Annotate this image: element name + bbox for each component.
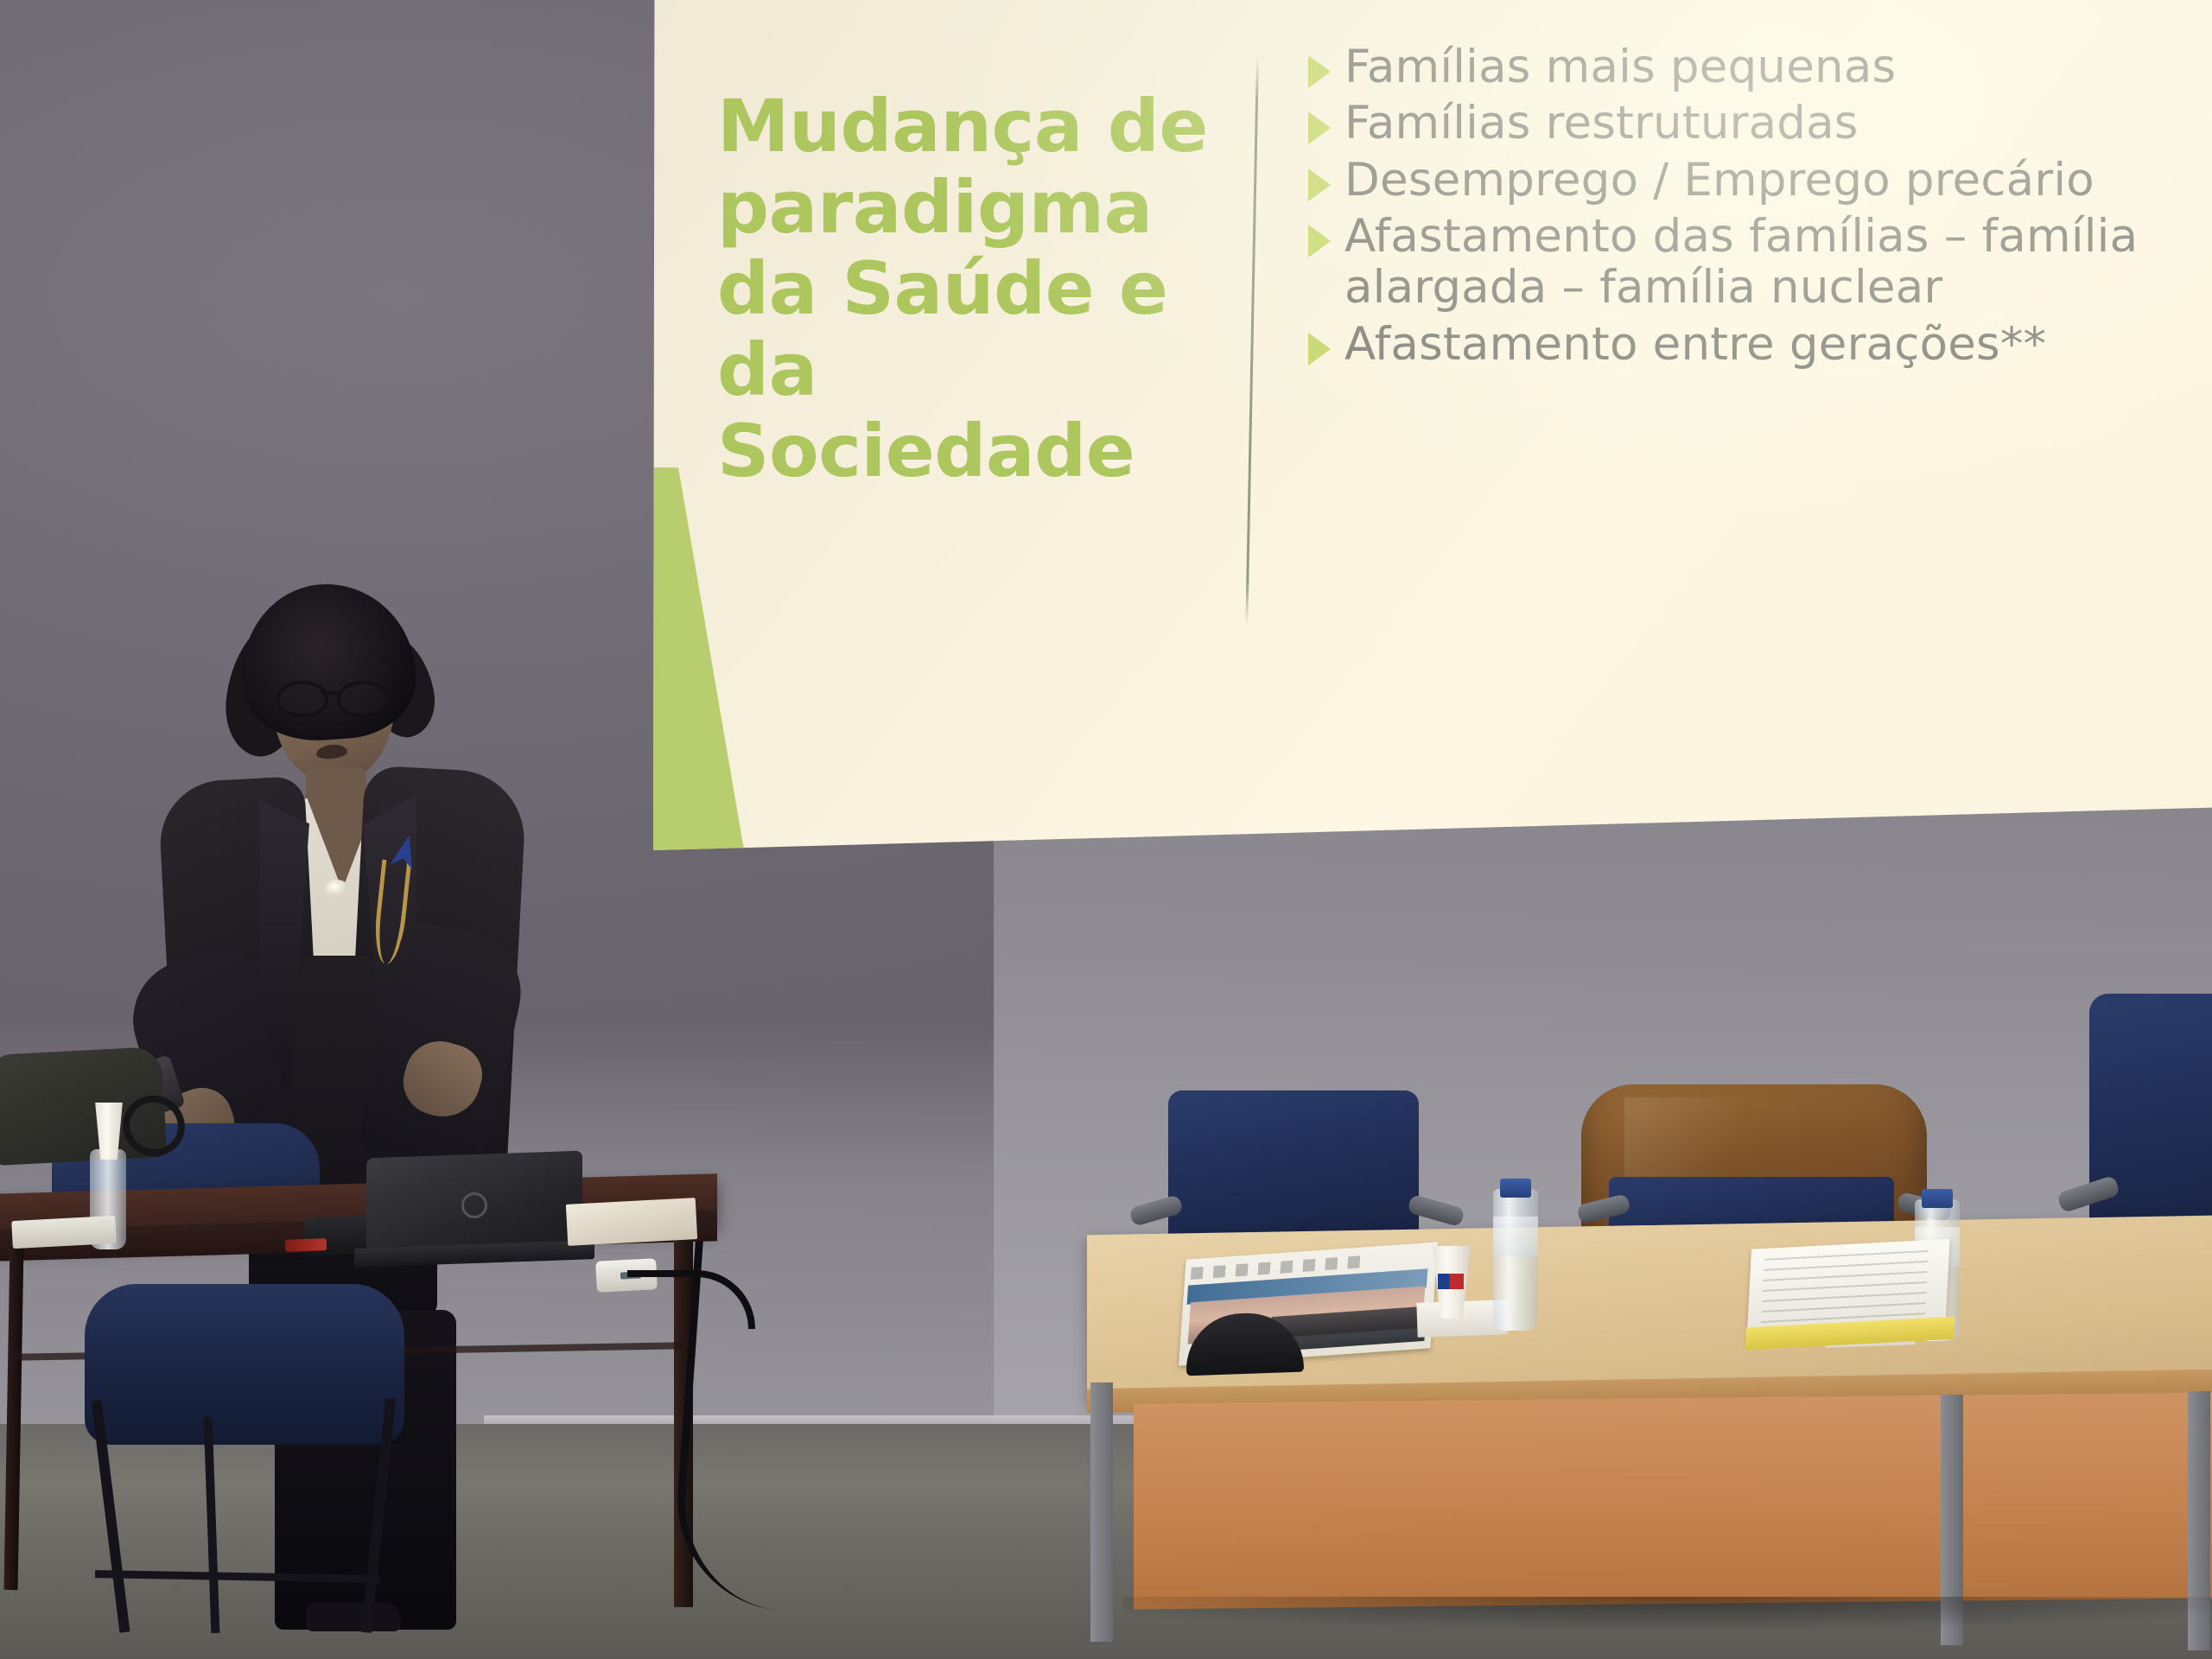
bullet-item: Afastamento entre gerações** bbox=[1308, 319, 2198, 370]
cup-logo-icon bbox=[1438, 1274, 1464, 1289]
slide-title: Mudança de paradigma da Saúde e da Socie… bbox=[717, 86, 1236, 492]
bullet-label: Desemprego / Emprego precário bbox=[1344, 155, 2094, 206]
head-table-leg-left bbox=[1090, 1382, 1113, 1642]
slide-title-line-1: Mudança de bbox=[717, 86, 1236, 167]
slide-bullet-list: Famílias mais pequenas Famílias restrutu… bbox=[1308, 41, 2198, 375]
triangle-bullet-icon bbox=[1308, 225, 1331, 257]
paper-napkin-desk bbox=[11, 1216, 117, 1249]
triangle-bullet-icon bbox=[1308, 333, 1331, 365]
hair bbox=[237, 578, 420, 746]
slide-title-line-2: paradigma bbox=[717, 167, 1236, 248]
water-bottle-1-cap bbox=[1500, 1179, 1531, 1198]
bullet-item: Famílias mais pequenas bbox=[1308, 41, 2198, 92]
bullet-label: Famílias mais pequenas bbox=[1344, 41, 1896, 92]
triangle-bullet-icon bbox=[1308, 168, 1331, 201]
triangle-bullet-icon bbox=[1308, 111, 1331, 144]
table-floor-shadow bbox=[1123, 1597, 2212, 1631]
glasses-lens-right bbox=[337, 681, 389, 717]
papers-on-desk bbox=[566, 1198, 697, 1246]
bullet-item: Famílias restruturadas bbox=[1308, 98, 2198, 149]
bullet-item: Desemprego / Emprego precário bbox=[1308, 155, 2198, 206]
slide-accent-wedge bbox=[650, 467, 745, 850]
chair-front-left bbox=[85, 1284, 404, 1445]
bullet-label: Afastamento entre gerações** bbox=[1344, 319, 2046, 370]
glasses-lens-left bbox=[276, 681, 328, 717]
presenter bbox=[145, 584, 508, 1621]
bullet-label: Famílias restruturadas bbox=[1344, 98, 1859, 149]
glasses-icon bbox=[276, 681, 397, 710]
bullet-label: Afastamento das famílias – família alarg… bbox=[1344, 211, 2198, 314]
shoe bbox=[306, 1602, 401, 1631]
pendant bbox=[325, 880, 349, 899]
triangle-bullet-icon bbox=[1308, 55, 1331, 88]
water-bottle-2-cap bbox=[1922, 1189, 1953, 1208]
note-sheet-handwriting bbox=[1761, 1250, 1929, 1323]
projected-slide: Mudança de paradigma da Saúde e da Socie… bbox=[650, 0, 2212, 850]
slide-title-line-4: Sociedade bbox=[717, 410, 1236, 492]
water-bottle-1 bbox=[1493, 1189, 1538, 1331]
usb-adapter bbox=[285, 1238, 327, 1252]
glasses-bridge bbox=[321, 691, 340, 695]
slide-title-line-3: da Saúde e da bbox=[717, 248, 1236, 410]
head-table-modesty-panel bbox=[1134, 1392, 2212, 1609]
water-bottle-1-label bbox=[1493, 1217, 1538, 1256]
laptop-logo-icon bbox=[461, 1192, 487, 1218]
bullet-item: Afastamento das famílias – família alarg… bbox=[1308, 211, 2198, 314]
presentation-room-photo: Mudança de paradigma da Saúde e da Socie… bbox=[0, 0, 2212, 1659]
slide-divider-line bbox=[1245, 55, 1259, 626]
